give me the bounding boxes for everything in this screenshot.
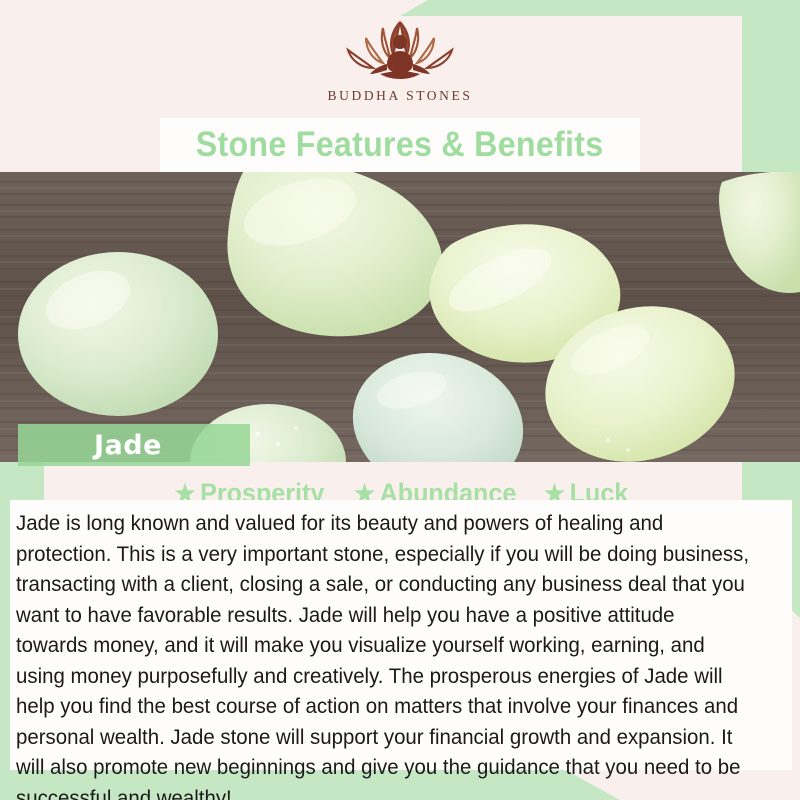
page-title: Stone Features & Benefits: [196, 125, 604, 165]
photo-graphic: [0, 172, 800, 462]
brand-header: BUDDHA STONES: [0, 0, 800, 118]
brand-logo: BUDDHA STONES: [270, 14, 530, 104]
stone-name: Jade: [94, 430, 162, 461]
stone-name-badge: Jade: [18, 424, 250, 466]
lotus-meditation-icon: [325, 14, 475, 86]
description-text: Jade is long known and valued for its be…: [16, 508, 749, 800]
title-banner: Stone Features & Benefits: [160, 118, 640, 172]
brand-name: BUDDHA STONES: [270, 88, 530, 104]
stone-info-card: BUDDHA STONES Stone Features & Benefits: [0, 0, 800, 800]
jade-tumbled-stones-photo: [0, 172, 800, 462]
